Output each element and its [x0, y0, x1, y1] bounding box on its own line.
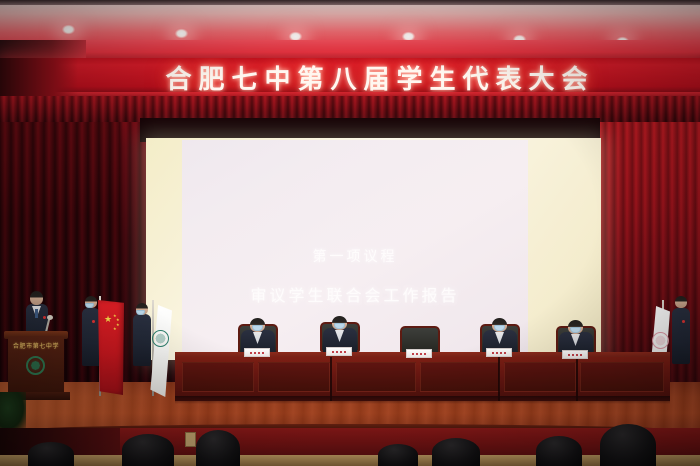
table-seam-3: [576, 357, 578, 401]
audience-head-6: [536, 436, 582, 466]
podium-speaker-badge: [43, 316, 46, 319]
podium-microphone: [47, 315, 53, 320]
spotlight-2: [174, 28, 189, 39]
table-seam-2: [498, 357, 500, 401]
table-panel-2: [258, 362, 330, 392]
table-panel-6: [580, 362, 664, 392]
table-panel-3: [336, 362, 416, 392]
podium-engraved-text: 合肥市第七中学: [10, 341, 62, 350]
table-panel-4: [420, 362, 500, 392]
flag-bearer-league-body: [672, 308, 690, 364]
flag-bearer-national-body: [82, 308, 100, 366]
presidium-person-2-mask: [334, 323, 345, 329]
audience-head-5: [432, 438, 480, 466]
flag-bearer-league-head: [675, 296, 687, 308]
table-seam-1: [330, 357, 332, 401]
table-panel-1: [182, 362, 254, 392]
podium-school-emblem-icon: [26, 356, 45, 375]
name-placard-1: [244, 348, 270, 357]
stage-apron-baseboard: [0, 455, 700, 466]
audience-head-1: [28, 442, 74, 466]
slide-agenda-heading: 第一项议程: [313, 246, 398, 266]
name-placard-3: [406, 349, 432, 358]
podium-speaker-tie: [35, 309, 38, 318]
spotlight-1: [61, 24, 76, 35]
youth-league-flag-emblem: [652, 332, 669, 349]
flag-bearer-school-body: [133, 314, 151, 366]
audience-head-4: [378, 444, 418, 466]
audience-head-7: [600, 424, 656, 466]
presidium-person-4-mask: [494, 325, 505, 331]
name-placard-2: [326, 347, 352, 356]
audience-head-3: [196, 430, 240, 466]
table-shadow: [175, 396, 670, 404]
stage-banner-text: 合肥七中第八届学生代表大会: [165, 59, 594, 96]
school-flag-emblem: [152, 330, 169, 347]
name-placard-4: [486, 348, 512, 357]
stage-banner: 合肥七中第八届学生代表大会: [0, 58, 700, 96]
flag-bearer-league-badge: [682, 320, 685, 323]
name-placard-5: [562, 350, 588, 359]
flag-bearer-national-badge: [92, 320, 95, 323]
auditorium-stage-photo: 合肥七中第八届学生代表大会 第一项议程 审议学生联合会工作报告 ★ ★ ★ ★ …: [0, 0, 700, 466]
apron-outlet: [185, 432, 196, 447]
flag-star-small-4: ★: [113, 327, 117, 331]
slide-agenda-item: 审议学生联合会工作报告: [250, 282, 459, 306]
ceiling-edge: [0, 0, 700, 5]
presidium-person-1-mask: [252, 325, 263, 331]
stage-plant: [0, 392, 26, 432]
audience-head-2: [122, 434, 174, 466]
presidium-person-5-mask: [570, 327, 581, 333]
flag-star-large: ★: [104, 316, 112, 325]
podium-speaker-head: [30, 291, 43, 305]
table-panel-5: [504, 362, 576, 392]
